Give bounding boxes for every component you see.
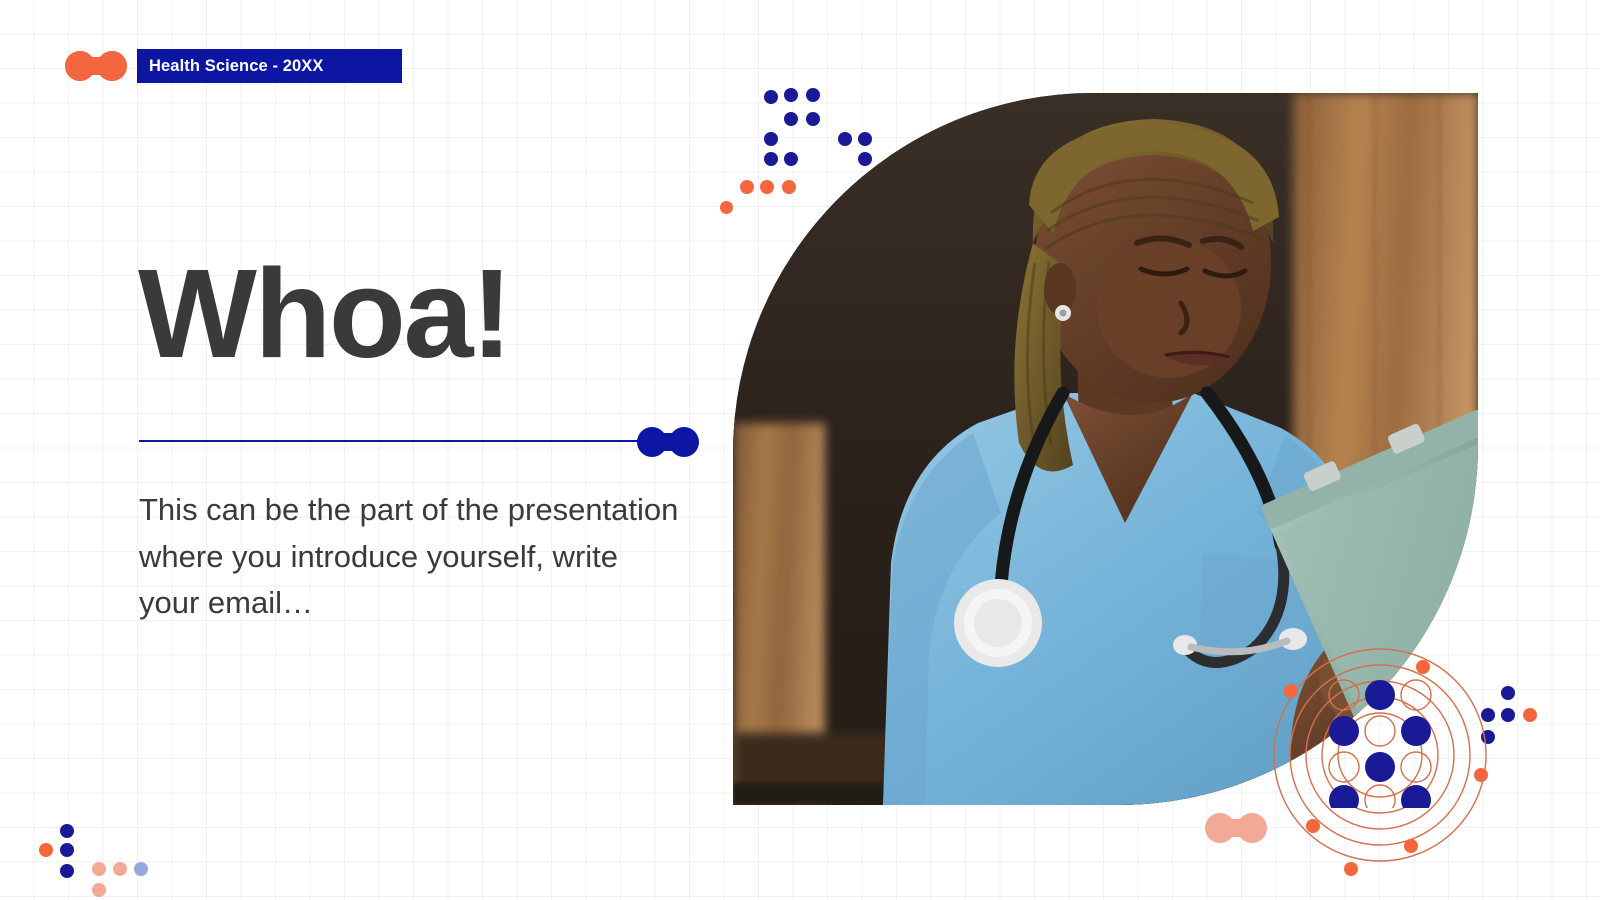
circle-grid-icon <box>1325 678 1435 808</box>
dot-salmon <box>113 862 127 876</box>
dot-navy <box>60 843 74 857</box>
dumbbell-icon <box>637 427 699 457</box>
dot-navy <box>784 152 798 166</box>
dot-navy <box>858 152 872 166</box>
dumbbell-icon <box>1205 812 1267 844</box>
subtitle-text: This can be the part of the presentation… <box>139 487 684 627</box>
dot-navy <box>806 88 820 102</box>
dot-orange <box>720 201 733 214</box>
dot-navy <box>784 112 798 126</box>
dot-navy <box>764 152 778 166</box>
dot-orange <box>760 180 774 194</box>
dot-navy <box>60 864 74 878</box>
dot-salmon <box>92 883 106 897</box>
dot-orange <box>782 180 796 194</box>
page-title: Whoa! <box>138 251 510 377</box>
dot-navy <box>858 132 872 146</box>
dot-orange <box>1523 708 1537 722</box>
divider-line <box>139 440 659 442</box>
dumbbell-logo-icon <box>65 51 127 81</box>
dot-orange <box>39 843 53 857</box>
dot-salmon <box>92 862 106 876</box>
eyebrow-badge: Health Science - 20XX <box>137 49 402 83</box>
dot-navy <box>764 132 778 146</box>
dot-navy <box>784 88 798 102</box>
dot-navy <box>60 824 74 838</box>
dot-navy <box>806 112 820 126</box>
badge-label: Health Science - 20XX <box>137 57 324 76</box>
dot-navy <box>838 132 852 146</box>
slide-canvas: Health Science - 20XX Whoa! This can be … <box>0 0 1600 900</box>
dot-navy <box>764 90 778 104</box>
dot-orange <box>740 180 754 194</box>
title-divider <box>139 427 699 457</box>
dot-periwinkle <box>134 862 148 876</box>
